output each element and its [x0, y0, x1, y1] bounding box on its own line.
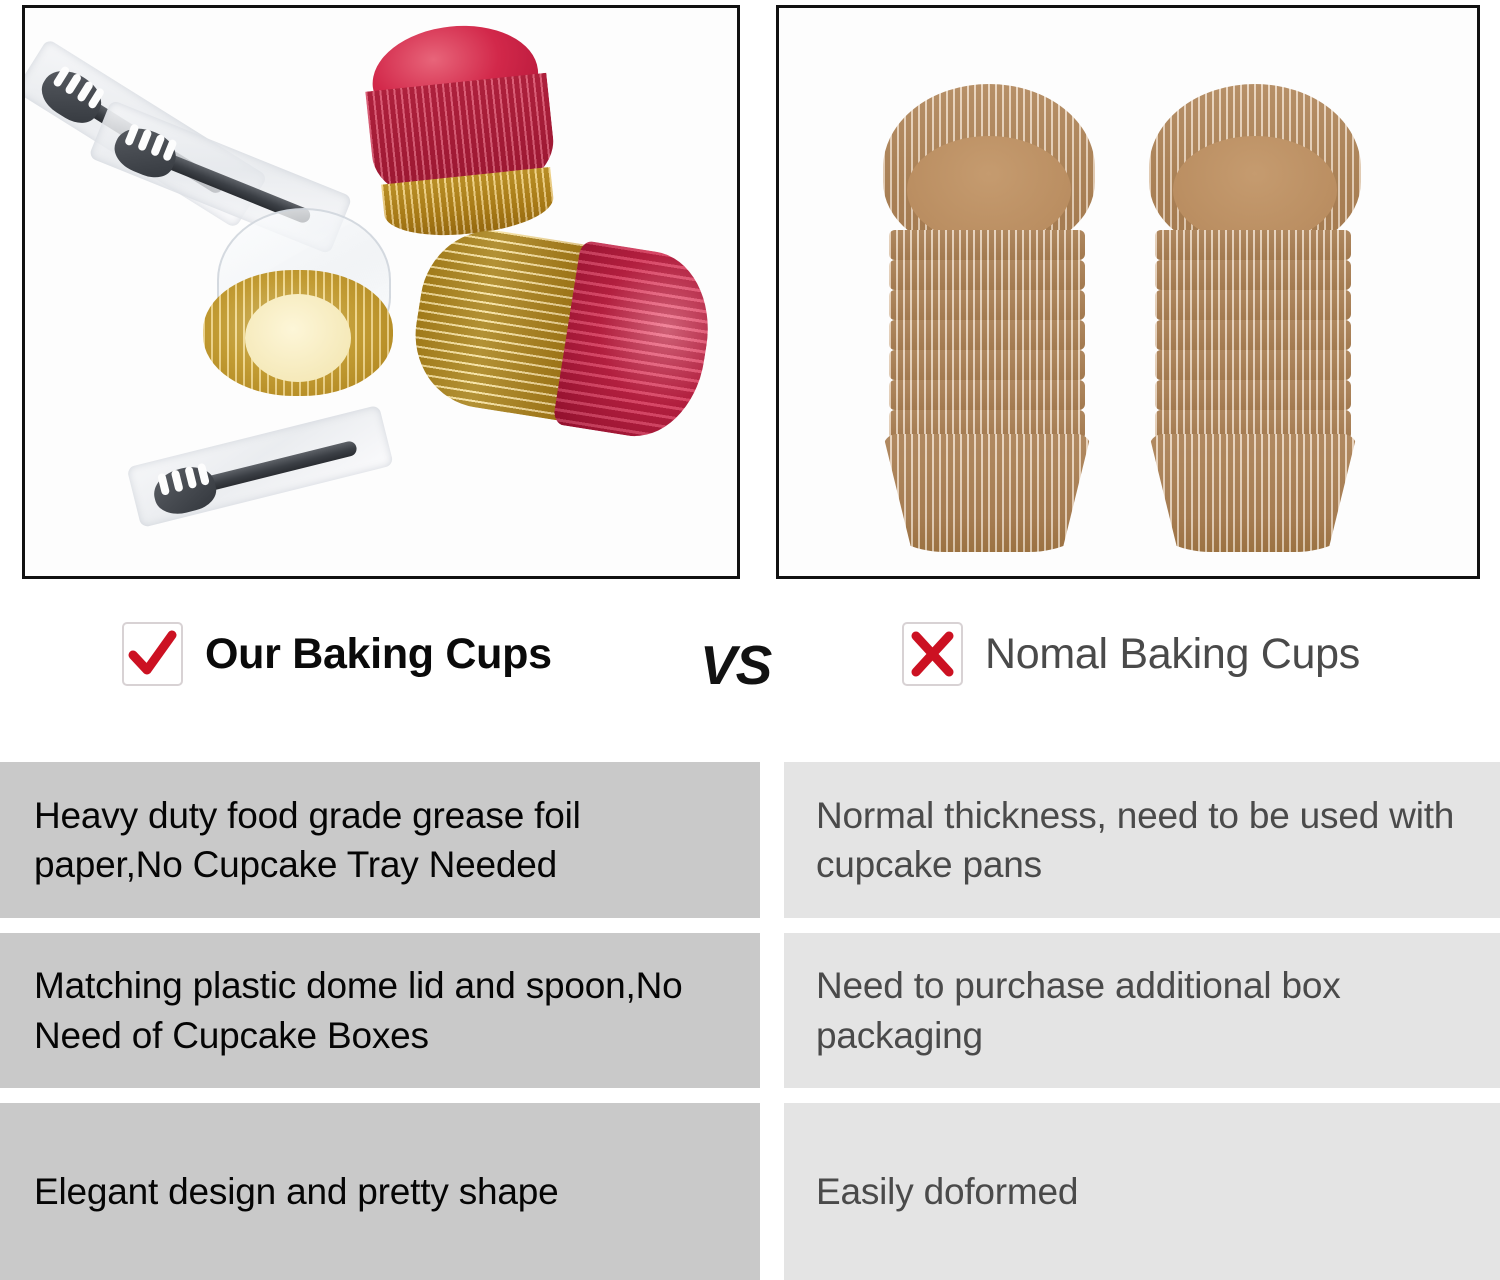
header-normal-label: Nomal Baking Cups [985, 630, 1360, 679]
comparison-row-normal-3: Easily doformed [784, 1103, 1500, 1280]
kraft-liner-top [883, 84, 1095, 252]
clear-dome-lid-with-cup [203, 208, 399, 398]
header-our-baking-cups: Our Baking Cups [122, 622, 552, 686]
comparison-row-normal-1: Normal thickness, need to be used with c… [784, 762, 1500, 918]
kraft-liner-bottom [1149, 434, 1357, 552]
header-normal-baking-cups: Nomal Baking Cups [902, 622, 1360, 686]
check-icon [122, 622, 183, 686]
comparison-text: Elegant design and pretty shape [34, 1167, 559, 1216]
kraft-liner-bottom [883, 434, 1091, 552]
comparison-row-ours-2: Matching plastic dome lid and spoon,No N… [0, 933, 760, 1088]
normal-baking-cups-photo [776, 5, 1480, 579]
comparison-row-ours-3: Elegant design and pretty shape [0, 1103, 760, 1280]
kraft-liner-top [1149, 84, 1361, 252]
versus-label: VS [700, 633, 771, 697]
comparison-text: Easily doformed [816, 1167, 1078, 1216]
comparison-header: Our Baking Cups VS Nomal Baking Cups [0, 600, 1500, 750]
comparison-row-ours-1: Heavy duty food grade grease foil paper,… [0, 762, 760, 918]
foil-cup-red-side [552, 240, 719, 446]
header-our-label: Our Baking Cups [205, 630, 552, 679]
comparison-text: Heavy duty food grade grease foil paper,… [34, 791, 726, 889]
comparison-text: Normal thickness, need to be used with c… [816, 791, 1470, 889]
photo-canvas-left [25, 8, 737, 576]
foil-cup-red-tipped [404, 214, 720, 447]
comparison-text: Need to purchase additional box packagin… [816, 961, 1470, 1059]
comparison-row-normal-2: Need to purchase additional box packagin… [784, 933, 1500, 1088]
cross-icon [902, 622, 963, 686]
product-photo-row [0, 0, 1500, 600]
comparison-text: Matching plastic dome lid and spoon,No N… [34, 961, 726, 1059]
foil-cup-interior [245, 294, 351, 382]
photo-canvas-right [779, 8, 1477, 576]
our-baking-cups-photo [22, 5, 740, 579]
